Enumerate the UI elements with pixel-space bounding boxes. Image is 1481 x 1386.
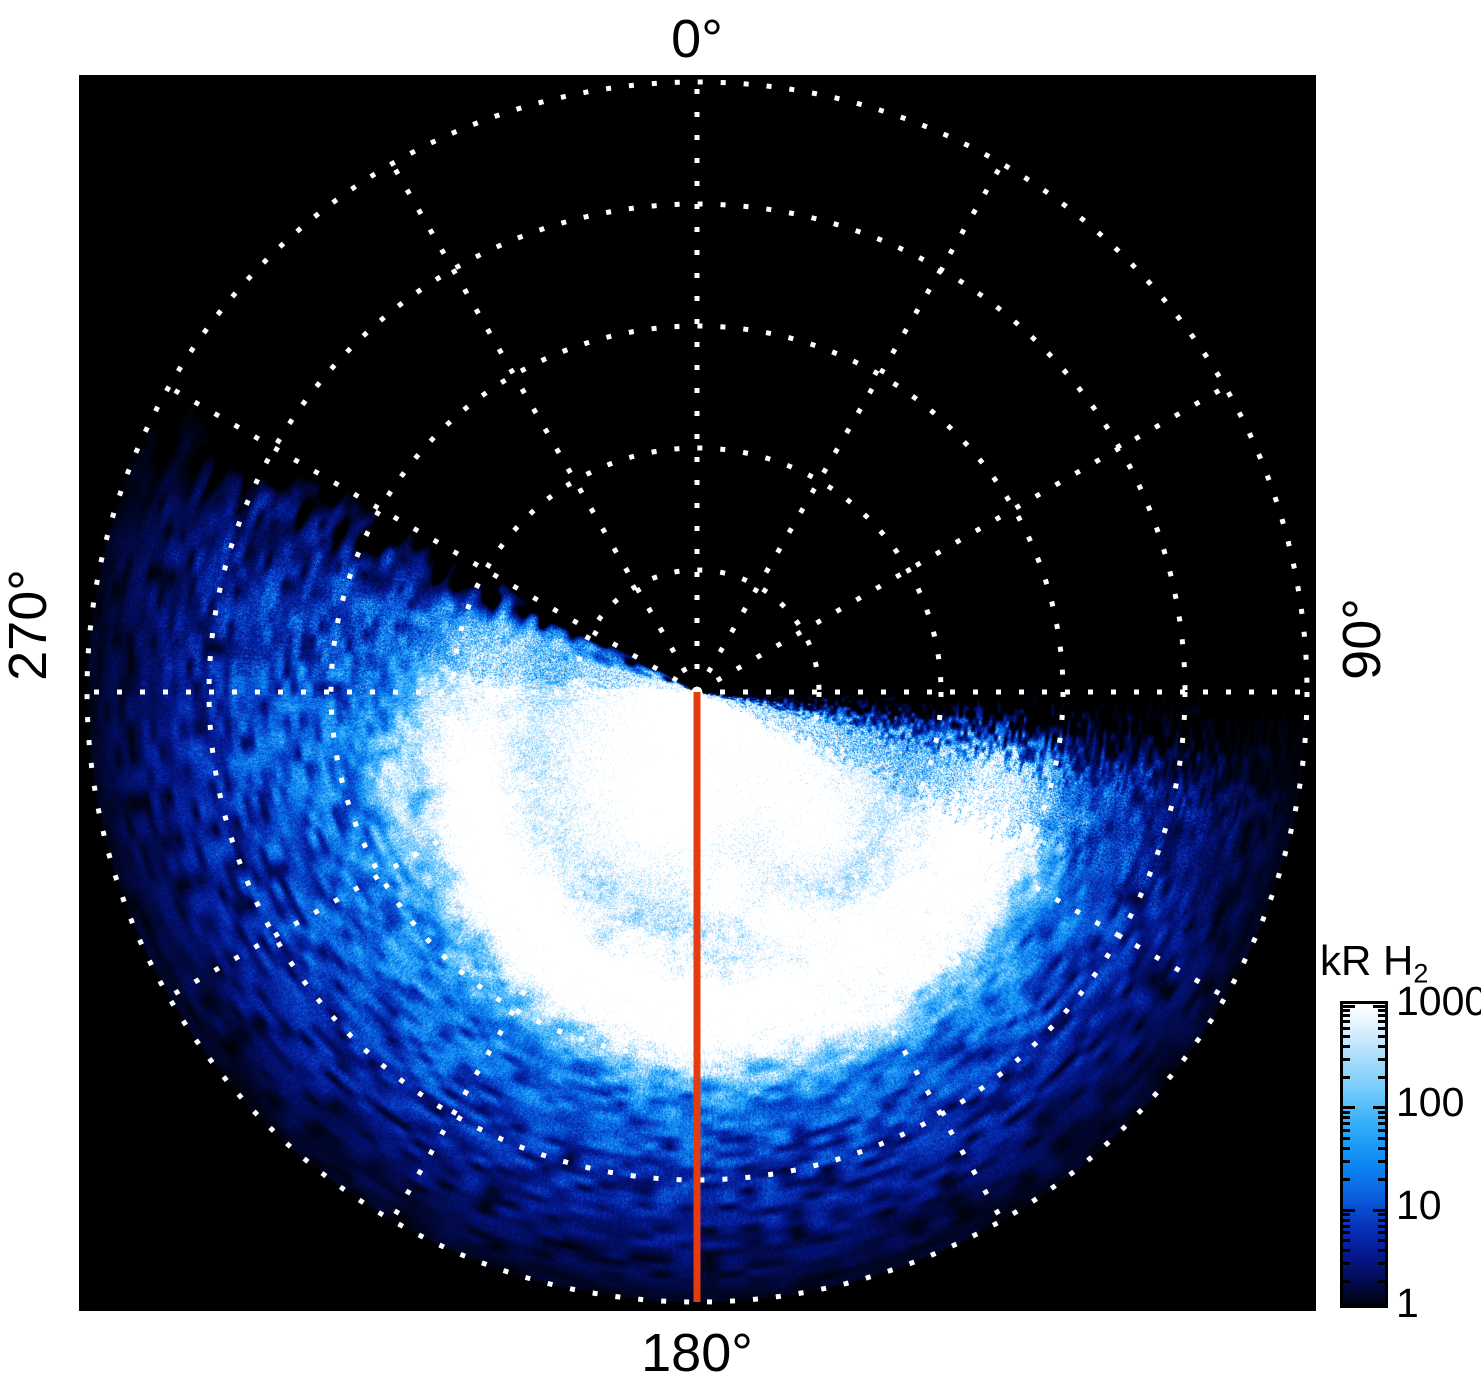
colorbar-minor-tick — [1378, 1045, 1385, 1048]
azimuth-label-0: 0° — [0, 12, 1394, 66]
colorbar-minor-tick — [1343, 1009, 1350, 1012]
colorbar-tick-label: 100 — [1396, 1082, 1464, 1123]
colorbar-minor-tick — [1343, 1262, 1350, 1265]
colorbar-minor-tick — [1378, 1076, 1385, 1079]
colorbar-minor-tick — [1343, 1280, 1350, 1283]
colorbar-swatch — [1340, 1001, 1388, 1308]
colorbar-minor-tick — [1378, 1058, 1385, 1061]
polar-plot-panel — [79, 75, 1316, 1311]
colorbar-major-tick — [1343, 1209, 1355, 1212]
colorbar-minor-tick — [1343, 1129, 1350, 1132]
colorbar-minor-tick — [1378, 1225, 1385, 1228]
colorbar-minor-tick — [1343, 1076, 1350, 1079]
colorbar-minor-tick — [1378, 1137, 1385, 1140]
colorbar-minor-tick — [1378, 1178, 1385, 1181]
colorbar-minor-tick — [1378, 1231, 1385, 1234]
colorbar-minor-tick — [1343, 1239, 1350, 1242]
colorbar-minor-tick — [1378, 1213, 1385, 1216]
colorbar-minor-tick — [1343, 1020, 1350, 1023]
azimuth-label-270: 270° — [1, 545, 55, 705]
colorbar-minor-tick — [1378, 1116, 1385, 1119]
colorbar-minor-tick — [1343, 1058, 1350, 1061]
colorbar-major-tick — [1373, 1209, 1385, 1212]
colorbar-minor-tick — [1343, 1137, 1350, 1140]
colorbar-major-tick — [1343, 1307, 1355, 1308]
colorbar-minor-tick — [1343, 1225, 1350, 1228]
colorbar-major-tick — [1373, 1106, 1385, 1109]
colorbar-title-main: kR H — [1320, 937, 1413, 984]
colorbar-minor-tick — [1343, 1027, 1350, 1030]
colorbar-minor-tick — [1378, 1009, 1385, 1012]
colorbar-minor-tick — [1378, 1122, 1385, 1125]
colorbar-minor-tick — [1343, 1160, 1350, 1163]
colorbar-tick-label: 1 — [1396, 1283, 1419, 1324]
colorbar-minor-tick — [1378, 1035, 1385, 1038]
colorbar-minor-tick — [1343, 1213, 1350, 1216]
noon-meridian-line — [79, 75, 1316, 1311]
colorbar-gradient — [1343, 1004, 1385, 1305]
azimuth-label-90: 90° — [1335, 559, 1389, 719]
colorbar-minor-tick — [1378, 1014, 1385, 1017]
colorbar-minor-tick — [1378, 1249, 1385, 1252]
colorbar-minor-tick — [1378, 1219, 1385, 1222]
azimuth-label-180: 180° — [0, 1326, 1394, 1380]
colorbar-minor-tick — [1343, 1249, 1350, 1252]
colorbar-major-tick — [1373, 1307, 1385, 1308]
colorbar-minor-tick — [1378, 1262, 1385, 1265]
colorbar-minor-tick — [1378, 1160, 1385, 1163]
colorbar-minor-tick — [1343, 1178, 1350, 1181]
colorbar-minor-tick — [1378, 1111, 1385, 1114]
colorbar-tick-label: 1000 — [1396, 981, 1481, 1022]
colorbar-major-tick — [1343, 1005, 1355, 1008]
colorbar-major-tick — [1373, 1005, 1385, 1008]
colorbar-minor-tick — [1343, 1147, 1350, 1150]
colorbar-tick-label: 10 — [1396, 1185, 1442, 1226]
colorbar-minor-tick — [1343, 1219, 1350, 1222]
colorbar-minor-tick — [1378, 1020, 1385, 1023]
colorbar-minor-tick — [1378, 1147, 1385, 1150]
colorbar-minor-tick — [1378, 1129, 1385, 1132]
colorbar-minor-tick — [1343, 1014, 1350, 1017]
colorbar-minor-tick — [1343, 1116, 1350, 1119]
colorbar-minor-tick — [1343, 1111, 1350, 1114]
colorbar-minor-tick — [1343, 1122, 1350, 1125]
colorbar-minor-tick — [1343, 1231, 1350, 1234]
colorbar-minor-tick — [1378, 1027, 1385, 1030]
colorbar-minor-tick — [1343, 1035, 1350, 1038]
colorbar-minor-tick — [1378, 1280, 1385, 1283]
colorbar-major-tick — [1343, 1106, 1355, 1109]
colorbar-minor-tick — [1343, 1045, 1350, 1048]
colorbar-minor-tick — [1378, 1239, 1385, 1242]
